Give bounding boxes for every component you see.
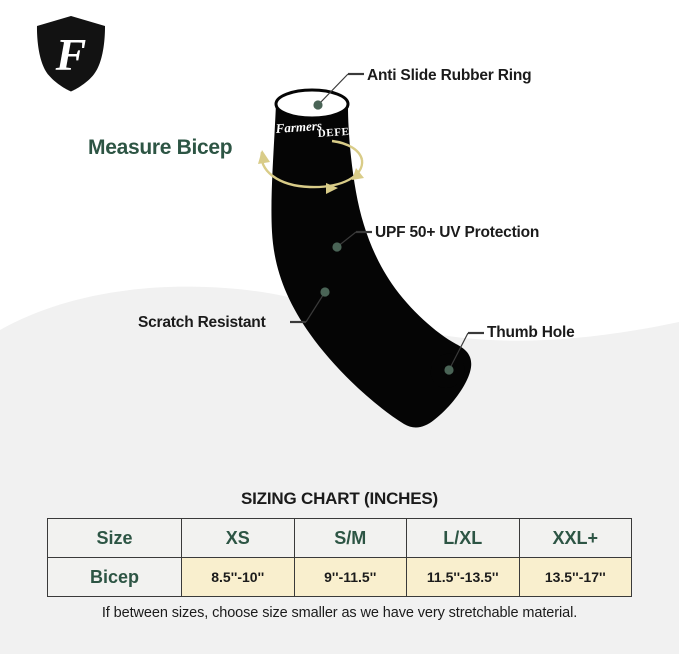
table-row: Bicep 8.5''-10'' 9''-11.5'' 11.5''-13.5'…: [48, 558, 632, 597]
sizing-footnote: If between sizes, choose size smaller as…: [0, 605, 679, 621]
cell-bicep-sm: 9''-11.5'': [294, 558, 407, 597]
sleeve-body: [271, 90, 471, 427]
cell-bicep-xxl: 13.5''-17'': [519, 558, 632, 597]
sizing-chart-table: Size XS S/M L/XL XXL+ Bicep 8.5''-10'' 9…: [47, 518, 632, 597]
measure-bicep-label: Measure Bicep: [88, 136, 232, 160]
header-cell-xxl: XXL+: [519, 519, 632, 558]
callout-label-upf-protection: UPF 50+ UV Protection: [375, 224, 539, 242]
header-cell-size: Size: [48, 519, 182, 558]
header-cell-xs: XS: [182, 519, 295, 558]
cell-bicep-lxl: 11.5''-13.5'': [407, 558, 520, 597]
callout-label-anti-slide-rubber-ring: Anti Slide Rubber Ring: [367, 67, 531, 85]
sizing-chart-title: SIZING CHART (INCHES): [0, 489, 679, 509]
row-label-bicep: Bicep: [48, 558, 182, 597]
header-cell-lxl: L/XL: [407, 519, 520, 558]
table-header-row: Size XS S/M L/XL XXL+: [48, 519, 632, 558]
header-cell-sm: S/M: [294, 519, 407, 558]
cell-bicep-xs: 8.5''-10'': [182, 558, 295, 597]
callout-label-scratch-resistant: Scratch Resistant: [138, 314, 266, 332]
arm-sleeve-illustration: Farmers DEFENSE: [0, 0, 679, 470]
callout-label-thumb-hole: Thumb Hole: [487, 324, 575, 342]
svg-text:DEFENSE: DEFENSE: [317, 124, 373, 140]
infographic-page: F Farmers DEFENSE: [0, 0, 679, 654]
